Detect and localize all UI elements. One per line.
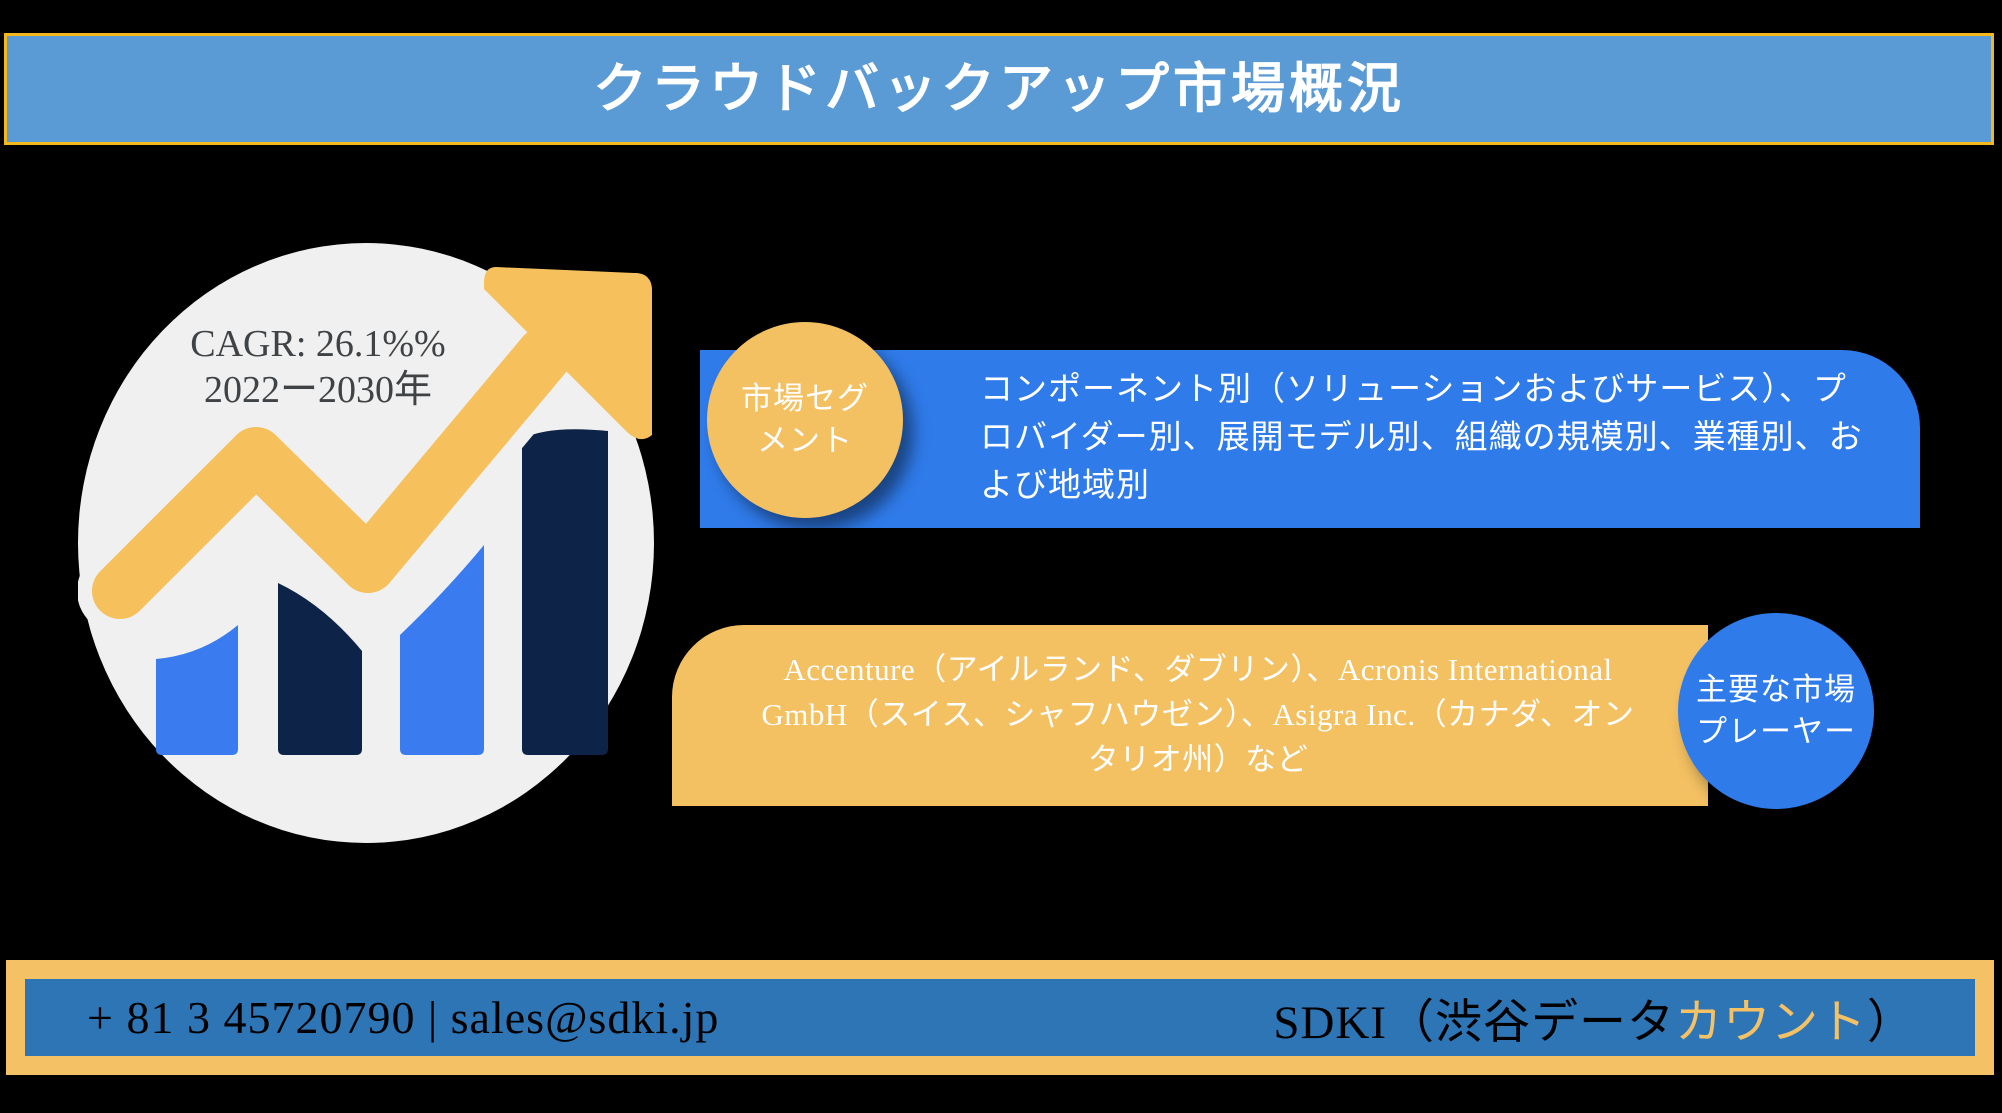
page-title: クラウドバックアップ市場概況 (593, 62, 1405, 116)
footer-brand: SDKI（渋谷データカウント） (1273, 983, 1975, 1052)
brand-accent: カウント (1675, 997, 1867, 1049)
key-players-panel: Accenture（アイルランド、ダブリン）、Acronis Internati… (672, 625, 1708, 806)
key-players-description: Accenture（アイルランド、ダブリン）、Acronis Internati… (672, 648, 1708, 783)
footer-contact-info[interactable]: + 81 3 45720790 | sales@sdki.jp (25, 991, 719, 1044)
key-players-badge: 主要な市場プレーヤー (1678, 613, 1874, 809)
key-players-label: 主要な市場プレーヤー (1696, 669, 1856, 753)
brand-suffix: ） (1867, 997, 1915, 1049)
market-segments-label: 市場セグメント (730, 378, 880, 462)
market-segments-badge: 市場セグメント (707, 322, 903, 518)
growth-bar-chart-arrow-icon (78, 243, 678, 858)
header-band: クラウドバックアップ市場概況 (4, 33, 1994, 145)
brand-prefix: SDKI（渋谷データ (1273, 997, 1675, 1049)
footer-band: + 81 3 45720790 | sales@sdki.jp SDKI（渋谷デ… (6, 960, 1994, 1075)
growth-chart-badge: CAGR: 26.1%% 2022ー2030年 (78, 243, 678, 858)
